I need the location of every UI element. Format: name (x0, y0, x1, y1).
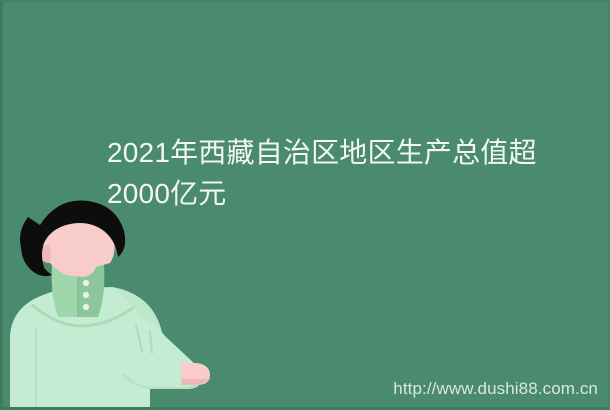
article-cover-image: 2021年西藏自治区地区生产总值超2000亿元 http://www.dushi… (0, 0, 610, 410)
collar-button (83, 292, 89, 298)
hand-shadow (181, 379, 208, 385)
site-watermark-url: http://www.dushi88.com.cn (393, 379, 598, 399)
hoodie-group (10, 287, 210, 410)
person-illustration (0, 195, 210, 410)
collar-button (83, 304, 89, 310)
person-illustration-svg (0, 195, 210, 410)
collar-button (83, 280, 89, 286)
page-title: 2021年西藏自治区地区生产总值超2000亿元 (107, 132, 562, 214)
